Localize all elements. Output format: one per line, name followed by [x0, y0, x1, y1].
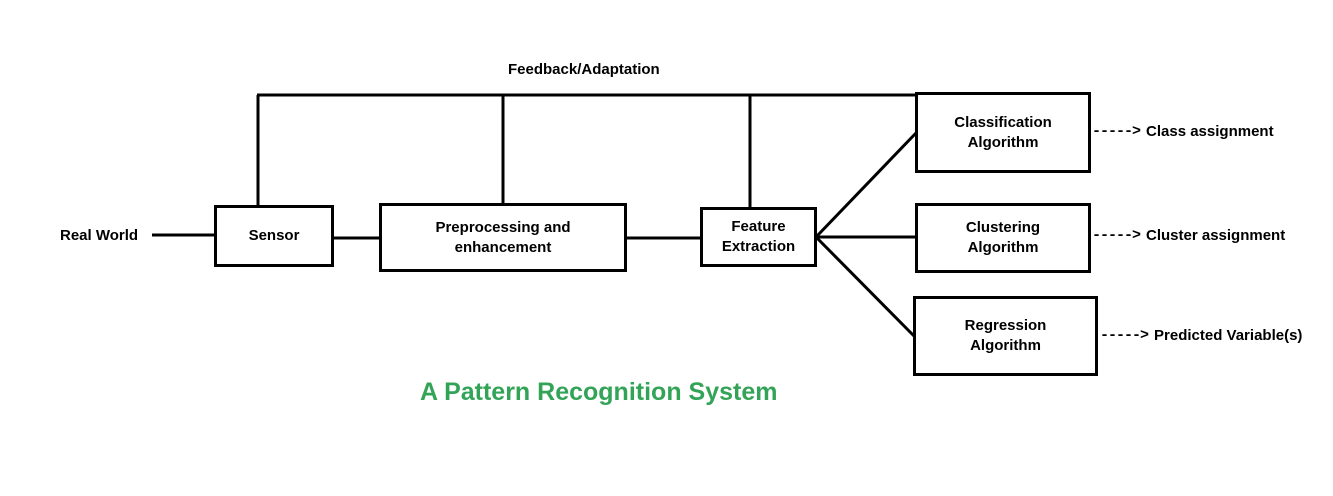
node-classification[interactable]: Classification Algorithm [915, 92, 1091, 173]
diagram-connectors [0, 0, 1333, 496]
dashed-arrow-icon: -----> [1092, 227, 1140, 244]
output-class-assignment: -----> Class assignment [1092, 123, 1274, 140]
dashed-arrow-icon: -----> [1092, 123, 1140, 140]
node-sensor[interactable]: Sensor [214, 205, 334, 267]
output-cluster-assignment-label: Cluster assignment [1146, 227, 1285, 244]
node-feature-extraction[interactable]: Feature Extraction [700, 207, 817, 267]
output-predicted-variables: -----> Predicted Variable(s) [1100, 327, 1302, 344]
connector-feature-classification [817, 133, 916, 236]
dashed-arrow-icon: -----> [1100, 327, 1148, 344]
node-sensor-label: Sensor [249, 226, 300, 246]
feedback-caption: Feedback/Adaptation [508, 61, 660, 78]
output-class-assignment-label: Class assignment [1146, 123, 1274, 140]
node-feature-extraction-label: Feature Extraction [722, 217, 795, 257]
diagram-title: A Pattern Recognition System [420, 378, 777, 407]
source-label-real-world: Real World [60, 227, 138, 244]
output-cluster-assignment: -----> Cluster assignment [1092, 227, 1285, 244]
node-classification-label: Classification Algorithm [954, 113, 1052, 153]
node-clustering-label: Clustering Algorithm [966, 218, 1040, 258]
node-regression[interactable]: Regression Algorithm [913, 296, 1098, 376]
node-preprocessing[interactable]: Preprocessing and enhancement [379, 203, 627, 272]
node-clustering[interactable]: Clustering Algorithm [915, 203, 1091, 273]
pattern-recognition-diagram: Feedback/Adaptation Real World Sensor Pr… [0, 0, 1333, 496]
connector-feature-regression [817, 238, 916, 338]
node-preprocessing-label: Preprocessing and enhancement [435, 218, 570, 258]
node-regression-label: Regression Algorithm [965, 316, 1047, 356]
output-predicted-variables-label: Predicted Variable(s) [1154, 327, 1302, 344]
